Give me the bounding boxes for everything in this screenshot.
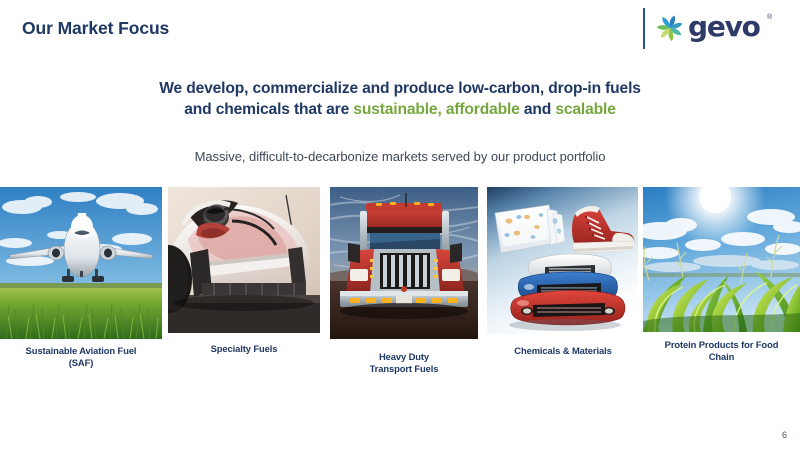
headline-separator: , xyxy=(437,101,445,118)
headline-conjunction: and xyxy=(520,101,556,118)
brand-wordmark: gevo xyxy=(688,10,760,43)
page-title: Our Market Focus xyxy=(22,18,169,39)
market-caption-protein: Protein Products for Food Chain xyxy=(643,339,800,362)
header-divider xyxy=(643,8,645,49)
semi-truck-photo xyxy=(330,187,478,339)
market-caption-chemicals-line1: Chemicals & Materials xyxy=(514,345,611,356)
market-caption-heavyduty-line1: Heavy Duty xyxy=(379,351,429,362)
market-caption-chemicals: Chemicals & Materials xyxy=(485,345,641,357)
market-caption-heavyduty: Heavy Duty Transport Fuels xyxy=(330,351,478,374)
slide-header: Our Market Focus gevo ® xyxy=(0,0,800,60)
brand-logo: gevo ® xyxy=(655,11,785,45)
page-number: 6 xyxy=(782,430,787,440)
market-caption-specialty-line1: Specialty Fuels xyxy=(211,343,278,354)
gevo-pinwheel-logo-icon xyxy=(655,13,685,43)
airplane-over-cornfield-photo xyxy=(0,187,162,339)
chemicals-materials-photo xyxy=(487,187,638,334)
headline-line-2-prefix: and chemicals that are xyxy=(184,101,353,118)
headline-line-1: We develop, commercialize and produce lo… xyxy=(159,80,641,97)
race-car-photo xyxy=(168,187,320,333)
headline-accent-sustainable: sustainable xyxy=(353,101,437,118)
market-caption-saf: Sustainable Aviation Fuel (SAF) xyxy=(0,345,164,368)
headline-accent-scalable: scalable xyxy=(555,101,615,118)
market-caption-protein-line2: Chain xyxy=(709,351,735,362)
market-caption-saf-line1: Sustainable Aviation Fuel xyxy=(26,345,137,356)
market-caption-heavyduty-line2: Transport Fuels xyxy=(370,363,439,374)
market-caption-protein-line1: Protein Products for Food xyxy=(665,339,779,350)
market-strip: Sustainable Aviation Fuel (SAF) xyxy=(0,187,800,387)
headline-accent-affordable: affordable xyxy=(446,101,520,118)
subtitle: Massive, difficult-to-decarbonize market… xyxy=(60,149,740,164)
headline: We develop, commercialize and produce lo… xyxy=(60,78,740,120)
sunlit-corn-field-photo xyxy=(643,187,800,332)
brand-trademark: ® xyxy=(767,14,772,21)
market-caption-specialty: Specialty Fuels xyxy=(168,343,320,355)
market-caption-saf-line2: (SAF) xyxy=(69,357,94,368)
